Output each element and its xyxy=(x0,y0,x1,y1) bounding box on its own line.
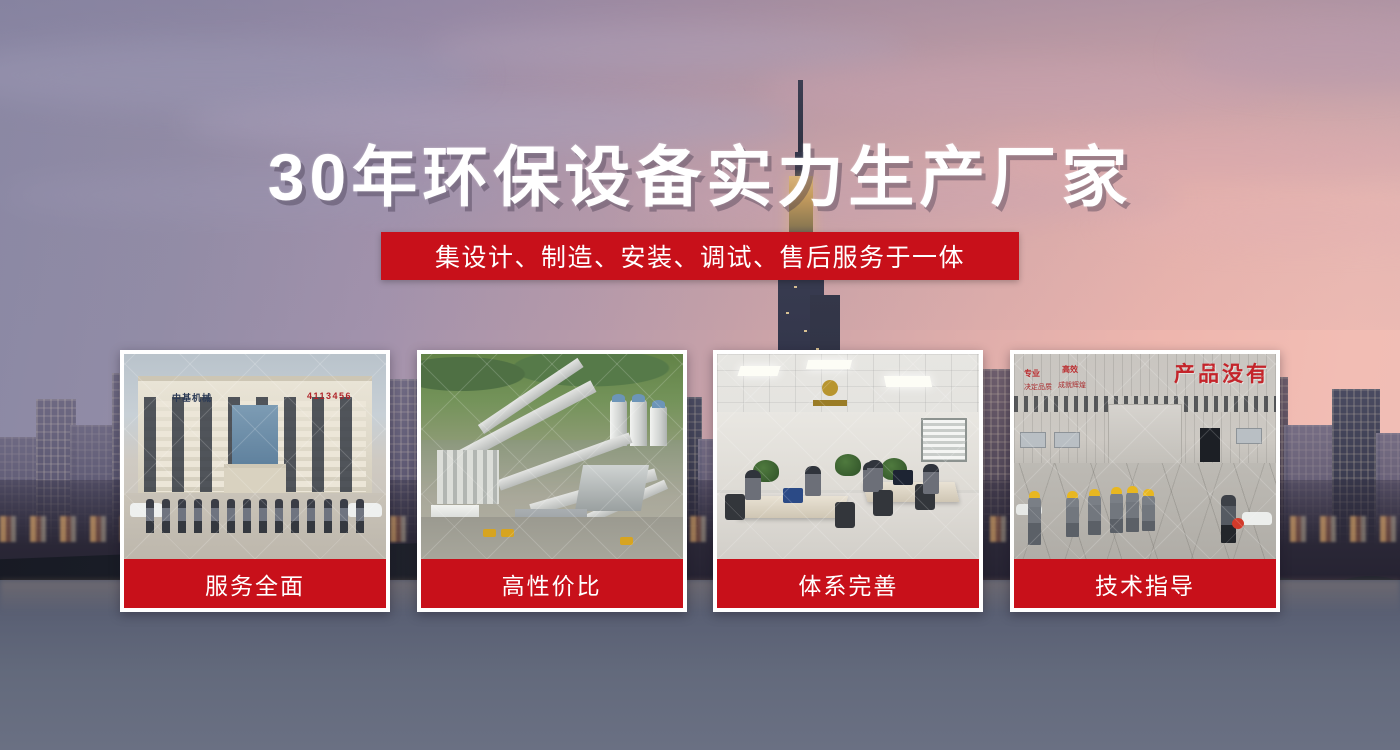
factory-sign-text: 产品没有 xyxy=(1174,358,1270,388)
card-photo-office-building: 中基机械 4113456 xyxy=(124,354,386,559)
wall-logo-icon xyxy=(813,376,847,406)
card-label-bar: 体系完善 xyxy=(717,559,979,608)
feature-card-list: 中基机械 4113456 服务全面 xyxy=(120,350,1280,612)
headline-title: 30年环保设备实力生产厂家 xyxy=(0,124,1400,220)
building-company-sign: 中基机械 xyxy=(172,391,212,404)
card-label-bar: 服务全面 xyxy=(124,559,386,608)
feature-card[interactable]: 高性价比 xyxy=(417,350,687,612)
card-photo-workers-training: 产品没有 专业 高效 决定品质 成就辉煌 xyxy=(1014,354,1276,559)
building-phone-number: 4113456 xyxy=(307,391,352,401)
factory-slogan-1: 专业 xyxy=(1024,368,1040,379)
card-label-text: 体系完善 xyxy=(798,567,898,601)
feature-card[interactable]: 产品没有 专业 高效 决定品质 成就辉煌 技术指导 xyxy=(1010,350,1280,612)
subtitle-banner: 集设计、制造、安装、调试、售后服务于一体 xyxy=(381,232,1019,280)
card-label-text: 高性价比 xyxy=(502,567,602,601)
card-photo-office-interior xyxy=(717,354,979,559)
subtitle-text: 集设计、制造、安装、调试、售后服务于一体 xyxy=(435,238,965,274)
card-label-bar: 技术指导 xyxy=(1014,559,1276,608)
card-label-text: 服务全面 xyxy=(205,567,305,601)
card-label-text: 技术指导 xyxy=(1095,567,1195,601)
factory-slogan-4: 成就辉煌 xyxy=(1058,380,1086,390)
feature-card[interactable]: 体系完善 xyxy=(713,350,983,612)
promo-banner: 30年环保设备实力生产厂家 集设计、制造、安装、调试、售后服务于一体 中基机械 … xyxy=(0,0,1400,750)
card-label-bar: 高性价比 xyxy=(421,559,683,608)
feature-card[interactable]: 中基机械 4113456 服务全面 xyxy=(120,350,390,612)
card-photo-industrial-plant xyxy=(421,354,683,559)
factory-slogan-3: 决定品质 xyxy=(1024,382,1052,392)
factory-slogan-2: 高效 xyxy=(1062,364,1078,375)
